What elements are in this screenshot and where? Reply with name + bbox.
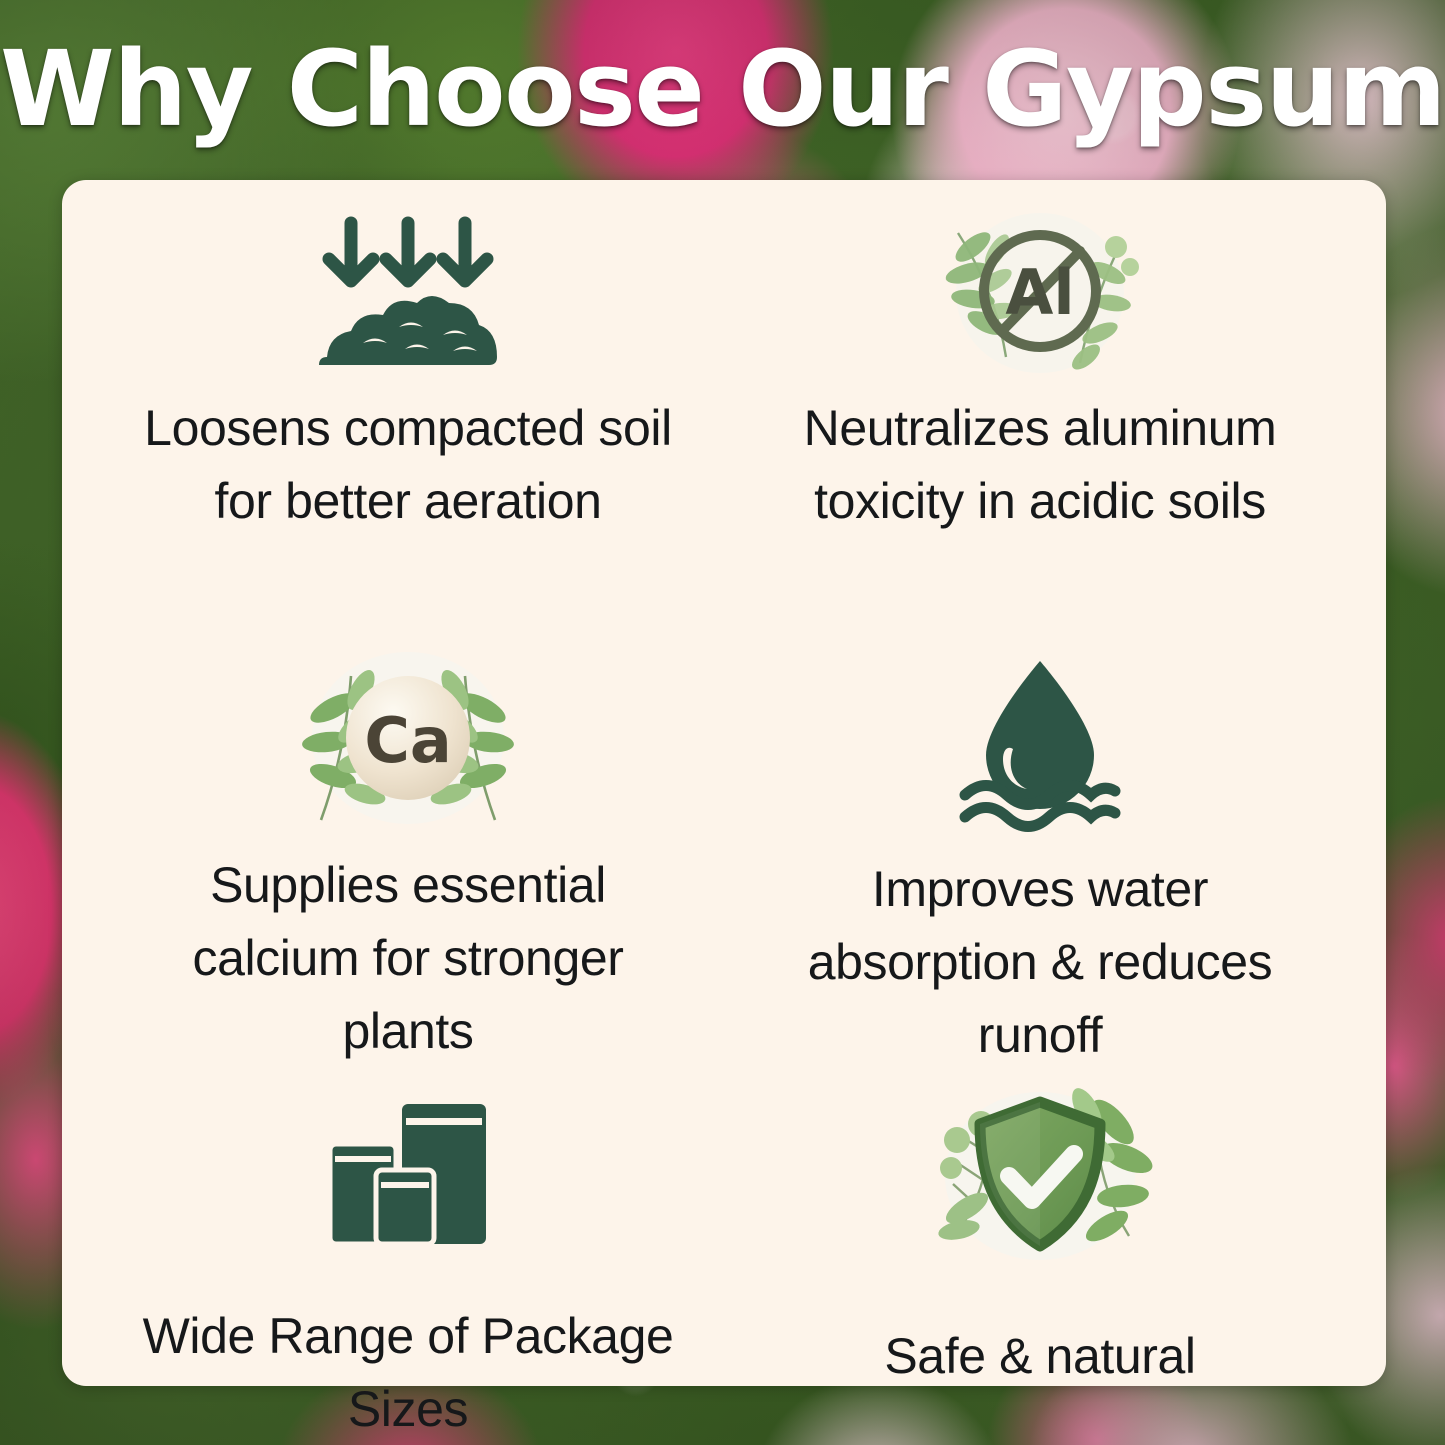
benefits-card: Loosens compacted soil for better aerati…	[62, 180, 1386, 1386]
benefits-grid: Loosens compacted soil for better aerati…	[92, 206, 1356, 1445]
svg-text:Ca: Ca	[364, 704, 451, 777]
benefit-text: Safe & natural	[884, 1320, 1195, 1393]
benefit-item-supplies-calcium: Ca Supplies essential calcium for strong…	[92, 639, 724, 1072]
packages-icon	[318, 1078, 498, 1274]
water-droplet-icon	[955, 645, 1125, 833]
benefit-text: Neutralizes aluminum toxicity in acidic …	[760, 392, 1320, 538]
no-aluminum-icon: Al	[940, 212, 1140, 378]
benefit-item-loosens-soil: Loosens compacted soil for better aerati…	[92, 206, 724, 639]
svg-text:Al: Al	[1005, 256, 1074, 329]
benefit-item-package-sizes: Wide Range of Package Sizes	[92, 1072, 724, 1445]
benefit-item-improves-water: Improves water absorption & reduces runo…	[724, 639, 1356, 1072]
header: Why Choose Our Gypsum	[0, 34, 1445, 144]
benefit-text: Loosens compacted soil for better aerati…	[128, 392, 688, 538]
calcium-sphere-icon: Ca	[299, 645, 517, 833]
page-title: Why Choose Our Gypsum	[0, 34, 1445, 144]
shield-check-leaves-icon	[937, 1078, 1143, 1274]
benefit-text: Wide Range of Package Sizes	[128, 1300, 688, 1445]
benefit-text: Improves water absorption & reduces runo…	[760, 853, 1320, 1072]
soil-arrows-icon	[313, 212, 503, 378]
benefit-item-safe-natural: Safe & natural	[724, 1072, 1356, 1445]
benefit-text: Supplies essential calcium for stronger …	[128, 849, 688, 1068]
benefit-item-neutralizes-aluminum: Al Neutralizes aluminum toxicity in acid…	[724, 206, 1356, 639]
